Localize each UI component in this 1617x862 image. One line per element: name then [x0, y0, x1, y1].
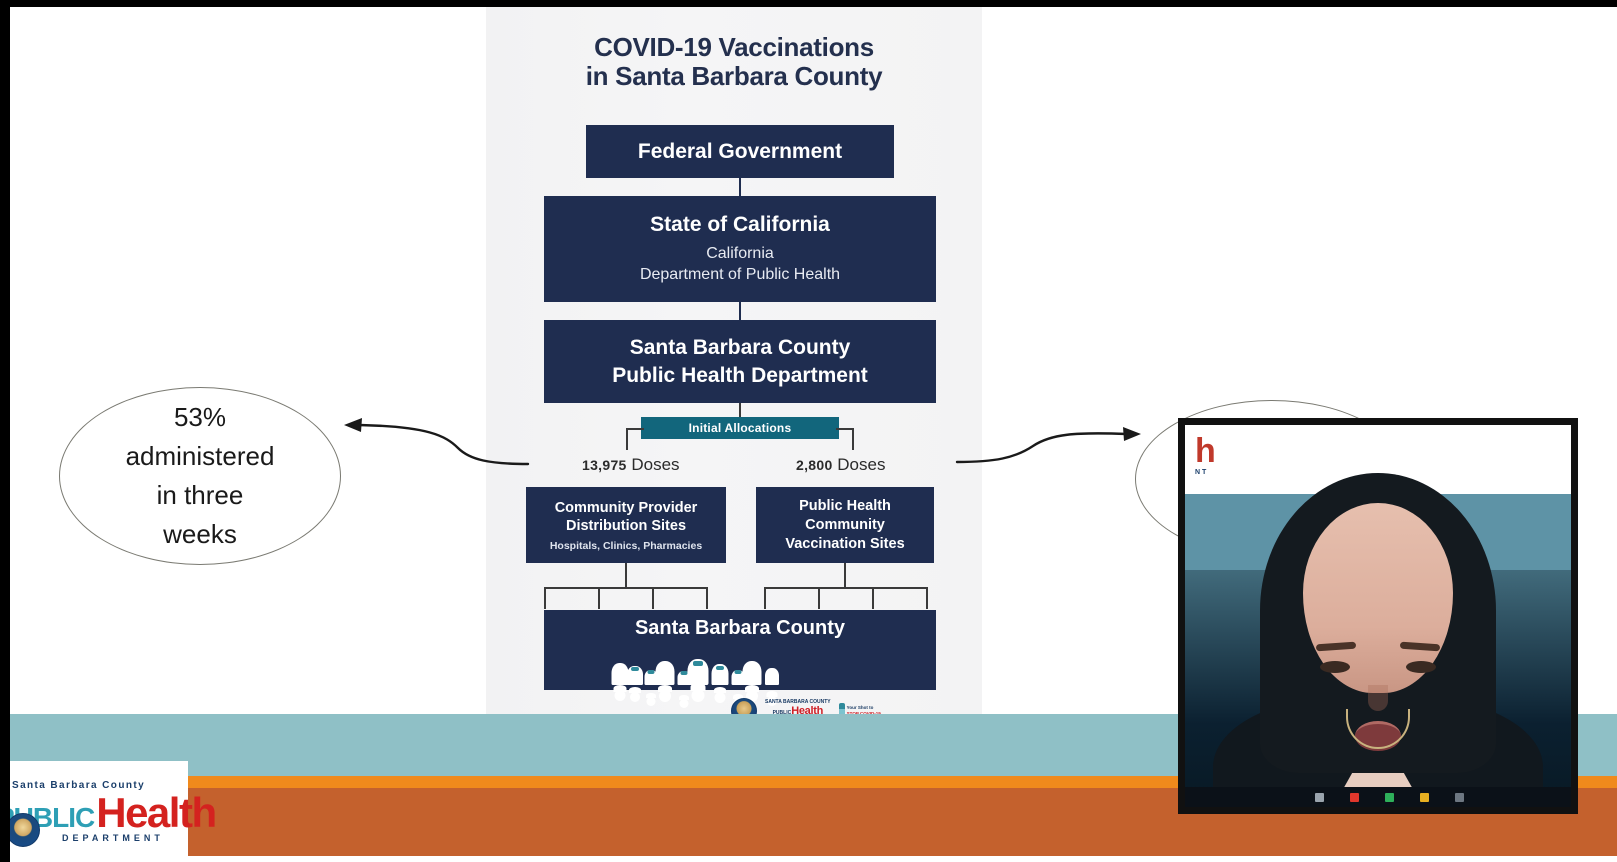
- speaker-eyebrow-left: [1316, 642, 1356, 652]
- box-public-line3: Vaccination Sites: [785, 535, 904, 554]
- callout-left-line4: weeks: [126, 515, 275, 554]
- video-overlay-logo-sub: NT: [1195, 469, 1208, 476]
- doses-right-number: 2,800: [796, 457, 833, 473]
- doses-left-number: 13,975: [582, 457, 627, 473]
- footer-public-health-logo: Santa Barbara County PUBLIC Health DEPAR…: [10, 761, 188, 861]
- infographic-title-line1: COVID-19 Vaccinations: [486, 33, 982, 62]
- arrow-right-icon: [955, 422, 1145, 482]
- box-provider-subtitle: Hospitals, Clinics, Pharmacies: [550, 540, 702, 552]
- box-state-sub-line1: California: [640, 243, 840, 264]
- box-federal-government: Federal Government: [586, 125, 894, 178]
- connector-public-stem: [844, 563, 846, 587]
- speaker-nose: [1368, 685, 1388, 711]
- toolbar-screen-icon[interactable]: [1315, 793, 1324, 802]
- vaccination-flow-infographic: COVID-19 Vaccinations in Santa Barbara C…: [486, 7, 982, 737]
- box-public-line2: Community: [805, 516, 885, 535]
- box-state-sub-line2: Department of Public Health: [640, 264, 840, 285]
- connector-public-bar: [764, 587, 928, 589]
- speaker-eye-left: [1320, 661, 1350, 673]
- box-county-line2: Public Health Department: [612, 362, 868, 390]
- speaker-video-panel[interactable]: h NT: [1178, 418, 1578, 814]
- box-public-health-vaccination-sites: Public Health Community Vaccination Site…: [756, 487, 934, 563]
- connector-public-stub-3: [872, 587, 874, 609]
- connector-band-right-v: [852, 428, 854, 450]
- arrow-left-icon: [340, 412, 530, 472]
- doses-left: 13,975 Doses: [582, 455, 680, 475]
- connector-public-stub-1: [764, 587, 766, 609]
- initial-allocations-band: Initial Allocations: [641, 417, 839, 439]
- connector-provider-bar: [544, 587, 708, 589]
- video-overlay-logo-icon: h: [1195, 437, 1216, 465]
- connector-provider-stub-4: [706, 587, 708, 609]
- speaker-eyebrow-right: [1400, 642, 1440, 652]
- infographic-title: COVID-19 Vaccinations in Santa Barbara C…: [486, 33, 982, 91]
- connector-band-left-h: [626, 428, 644, 430]
- box-county-line1: Santa Barbara County: [630, 334, 851, 362]
- toolbar-annotate-icon[interactable]: [1420, 793, 1429, 802]
- connector-provider-stub-2: [598, 587, 600, 609]
- toolbar-share-icon[interactable]: [1385, 793, 1394, 802]
- connector-state-county: [739, 302, 741, 320]
- toolbar-record-icon[interactable]: [1350, 793, 1359, 802]
- infographic-title-line2: in Santa Barbara County: [486, 62, 982, 91]
- connector-public-stub-4: [926, 587, 928, 609]
- speaker-video-feed: h NT: [1185, 425, 1571, 807]
- initial-allocations-label: Initial Allocations: [689, 421, 792, 435]
- box-provider-line1: Community Provider: [555, 499, 698, 517]
- box-county-public-health: Santa Barbara County Public Health Depar…: [544, 320, 936, 403]
- box-state-of-california: State of California California Departmen…: [544, 196, 936, 302]
- screen: COVID-19 Vaccinations in Santa Barbara C…: [0, 0, 1617, 862]
- connector-county-allocations: [739, 403, 741, 417]
- speaker-eye-right: [1406, 661, 1436, 673]
- callout-oval-left: 53% administered in three weeks: [59, 387, 341, 565]
- box-public-line1: Public Health: [799, 497, 891, 516]
- presentation-slide: COVID-19 Vaccinations in Santa Barbara C…: [10, 7, 1617, 862]
- toolbar-more-icon[interactable]: [1455, 793, 1464, 802]
- connector-provider-stub-1: [544, 587, 546, 609]
- connector-band-left-v: [626, 428, 628, 450]
- callout-left-line3: in three: [126, 476, 275, 515]
- doses-right: 2,800 Doses: [796, 455, 885, 475]
- footer-logo-health: Health: [96, 789, 215, 837]
- box-community-label: Santa Barbara County: [635, 617, 845, 640]
- callout-left-line1: 53%: [126, 398, 275, 437]
- footer-logo-department: DEPARTMENT: [62, 833, 188, 843]
- speaker-face: [1303, 503, 1453, 693]
- callout-left-line2: administered: [126, 437, 275, 476]
- doses-left-unit: Doses: [631, 455, 679, 474]
- box-community-provider-sites: Community Provider Distribution Sites Ho…: [526, 487, 726, 563]
- connector-provider-stub-3: [652, 587, 654, 609]
- footer-county-seal-icon: [10, 813, 40, 847]
- connector-provider-stem: [625, 563, 627, 587]
- doses-right-unit: Doses: [837, 455, 885, 474]
- box-provider-line2: Distribution Sites: [566, 517, 686, 535]
- connector-federal-state: [739, 178, 741, 196]
- box-state-title: State of California: [650, 213, 830, 237]
- community-people-icon: [620, 647, 790, 685]
- video-toolbar[interactable]: [1185, 787, 1571, 807]
- box-federal-label: Federal Government: [638, 140, 842, 164]
- connector-public-stub-2: [818, 587, 820, 609]
